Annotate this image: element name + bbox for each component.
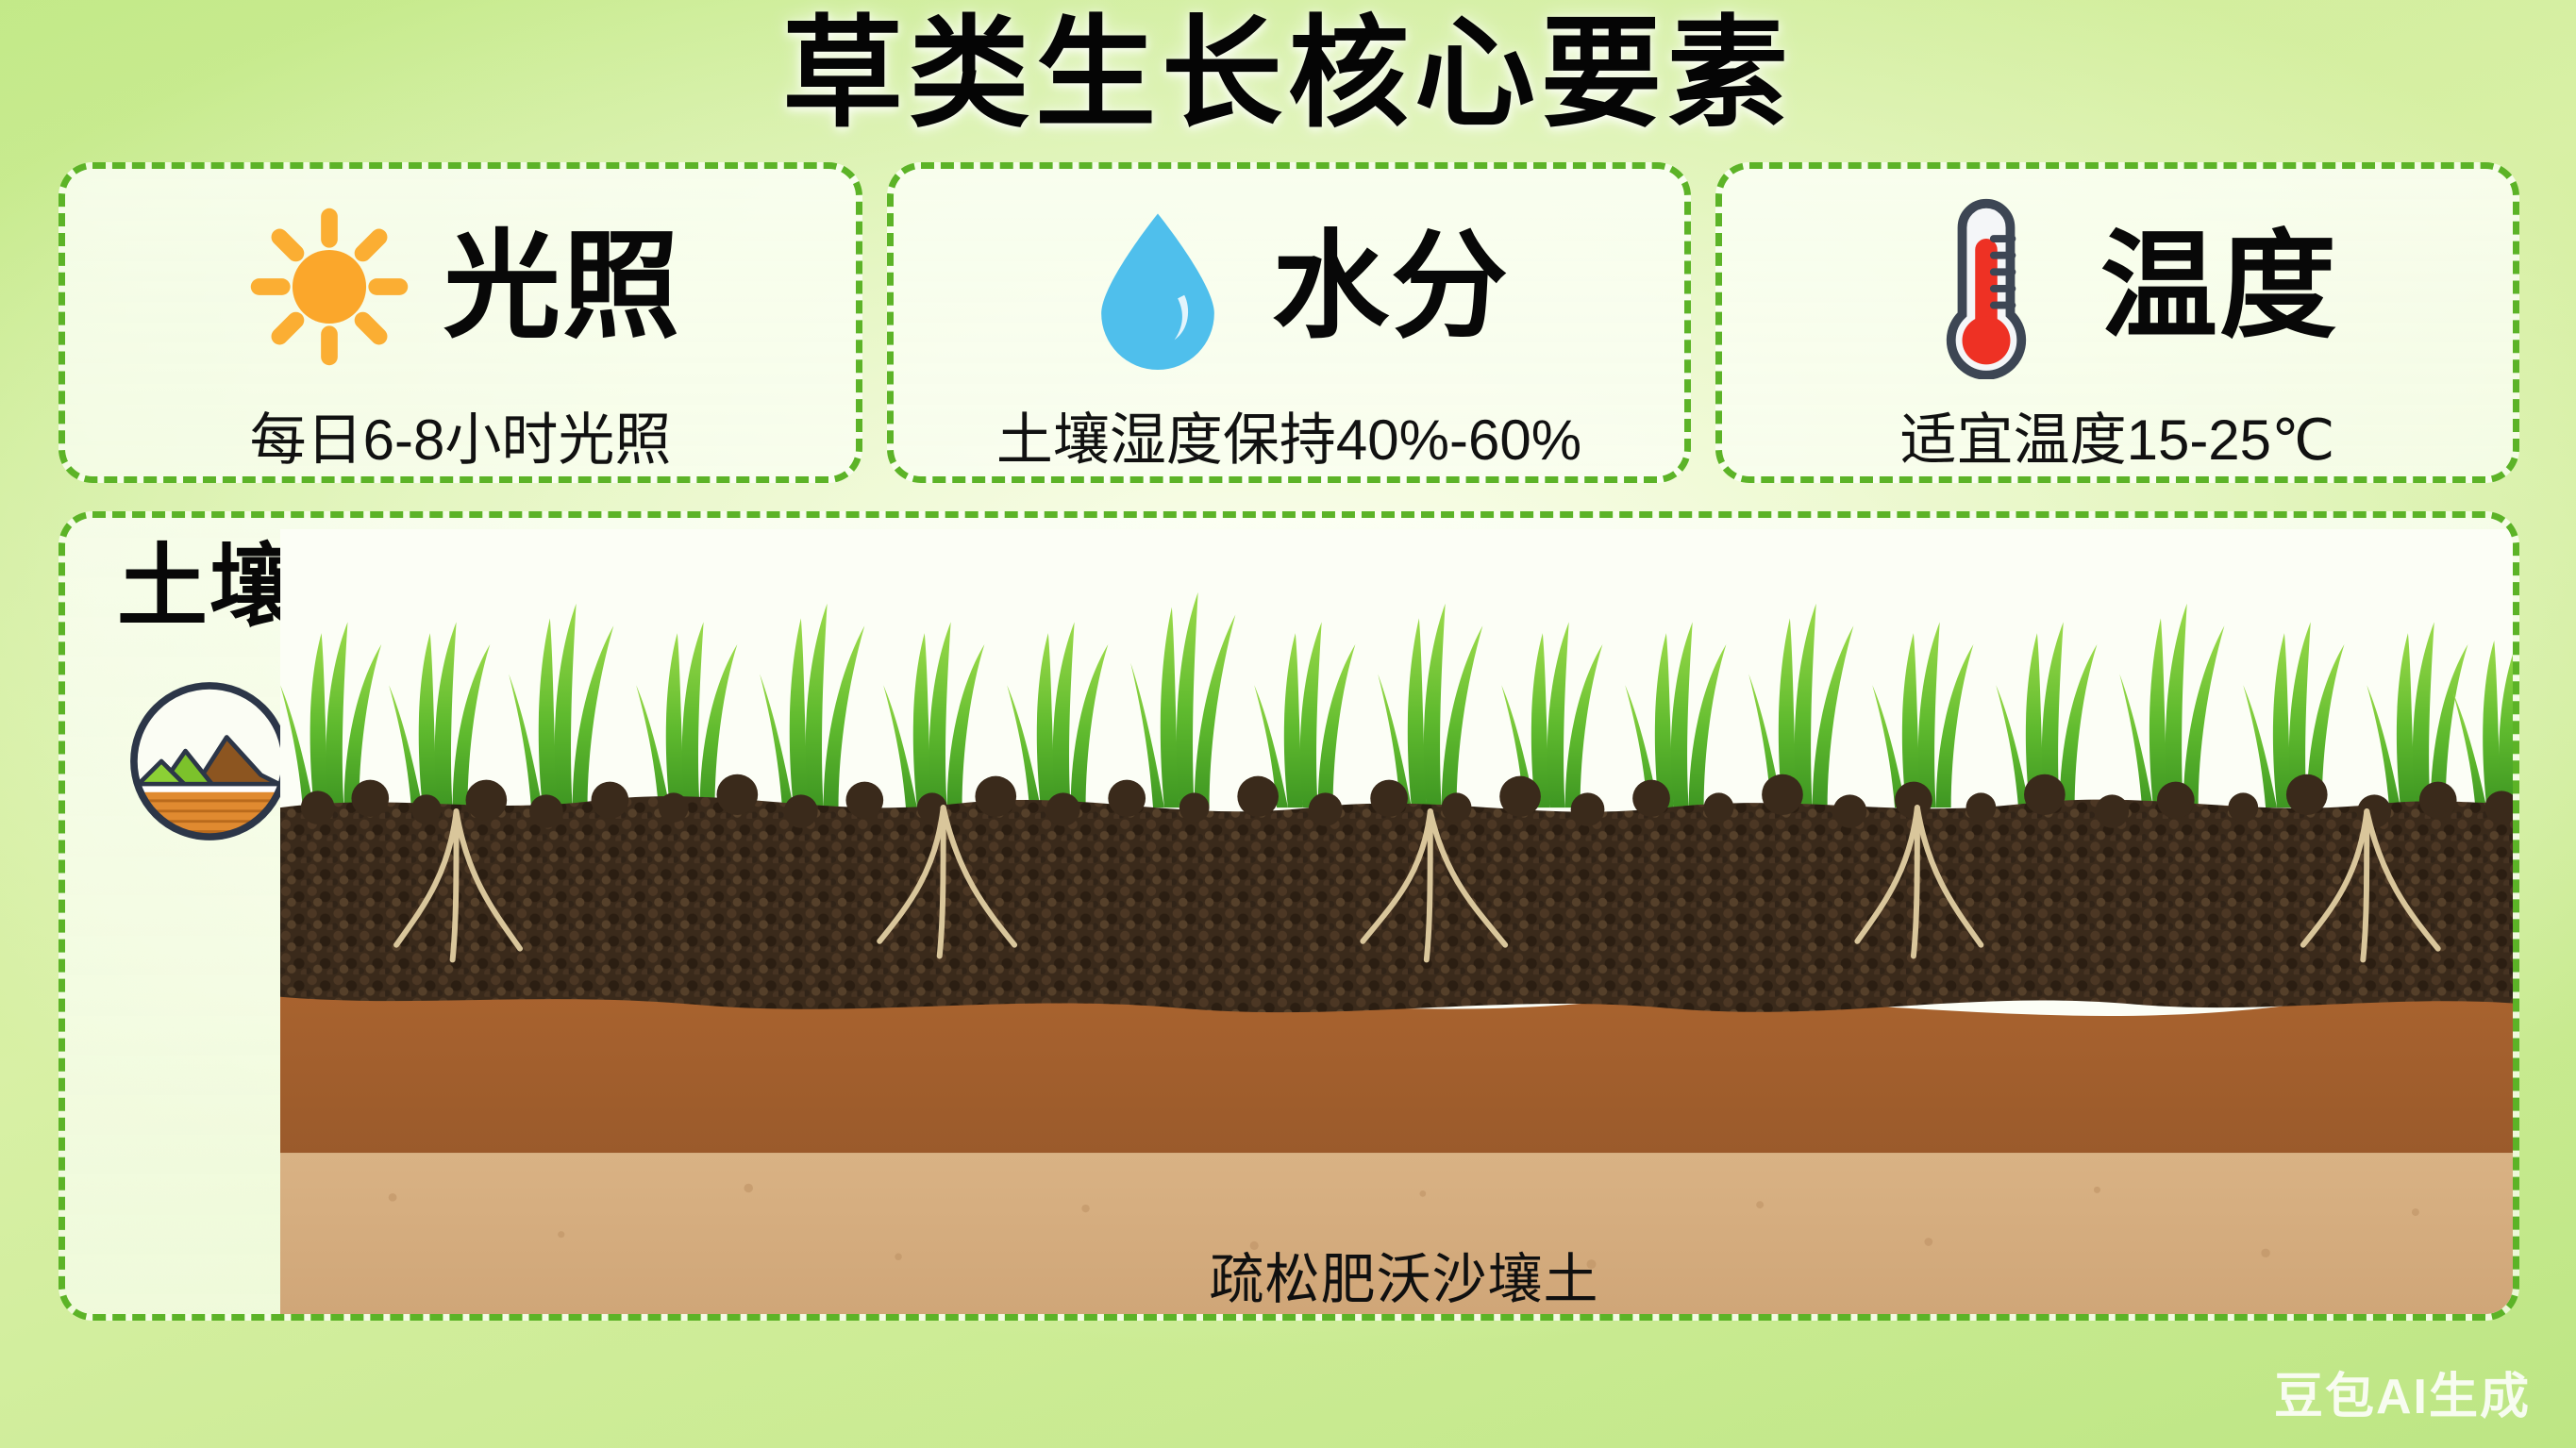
factor-desc-sunlight: 每日6-8小时光照	[250, 394, 672, 476]
factor-label-temperature: 温度	[2100, 228, 2338, 345]
factor-card-header: 温度	[1722, 195, 2513, 377]
factor-card-water[interactable]: 水分 土壤湿度保持40%-60%	[887, 162, 1691, 483]
factor-desc-water: 土壤湿度保持40%-60%	[996, 394, 1581, 476]
factor-desc-temperature: 适宜温度15-25℃	[1900, 394, 2335, 476]
factor-card-row: 光照 每日6-8小时光照 水分 土壤湿度保持40%-60%	[59, 162, 2519, 483]
factor-card-header: 光照	[65, 195, 856, 377]
page-title: 草类生长核心要素	[782, 11, 1794, 138]
factor-label-water: 水分	[1272, 228, 1510, 345]
factor-card-temperature[interactable]: 温度 适宜温度15-25℃	[1715, 162, 2519, 483]
soil-panel[interactable]: 土壤	[59, 511, 2519, 1321]
soil-title: 土壤	[117, 541, 302, 636]
soil-cross-section-illustration	[280, 529, 2519, 1321]
water-drop-icon	[1068, 197, 1247, 376]
page-title-container: 草类生长核心要素	[0, 11, 2576, 138]
watermark: 豆包AI生成	[2274, 1356, 2531, 1427]
factor-card-header: 水分	[894, 195, 1684, 377]
soil-layers-icon	[124, 675, 295, 847]
factor-label-sunlight: 光照	[443, 228, 681, 345]
factor-card-sunlight[interactable]: 光照 每日6-8小时光照	[59, 162, 862, 483]
sun-icon	[240, 197, 419, 376]
thermometer-icon	[1897, 197, 2076, 376]
soil-caption: 疏松肥沃沙壤土	[280, 1235, 2519, 1314]
